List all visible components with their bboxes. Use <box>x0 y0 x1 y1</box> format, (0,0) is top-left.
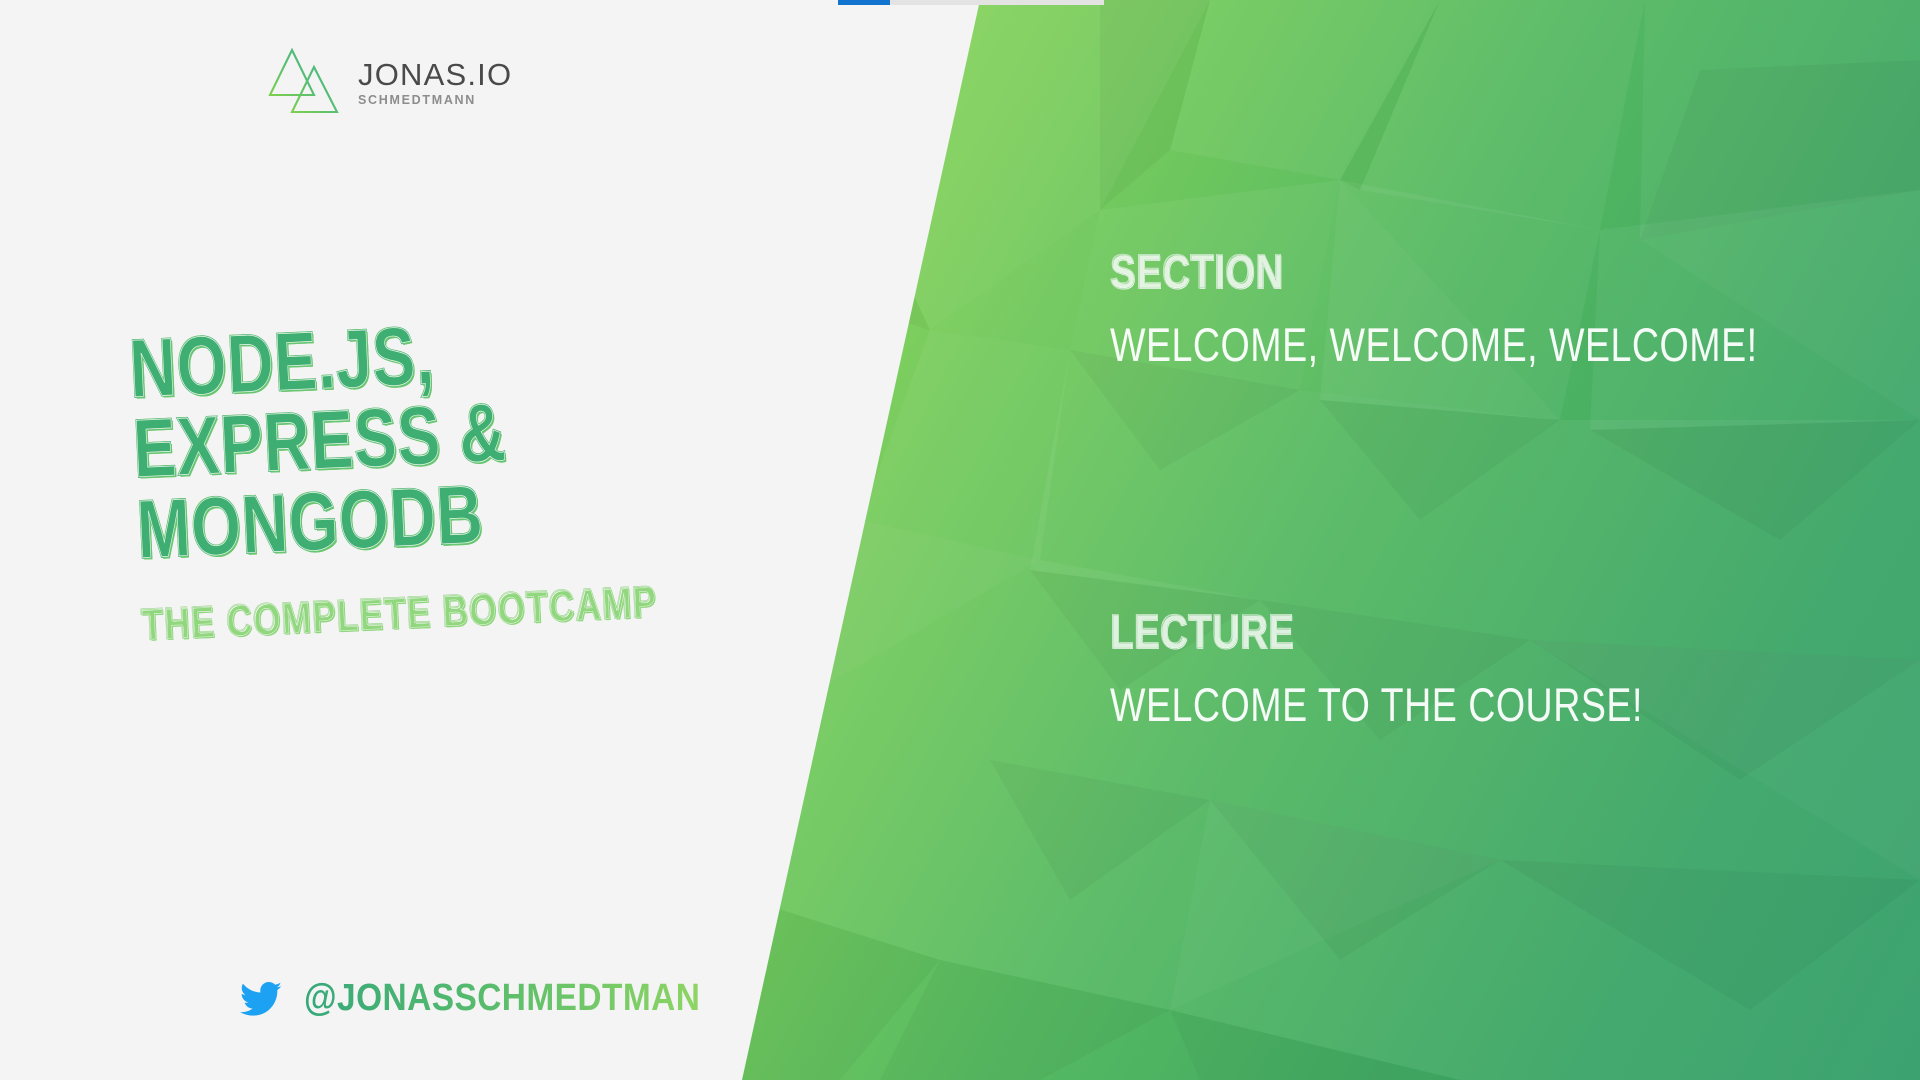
brand-logo[interactable]: JONAS.IO SCHMEDTMANN <box>268 42 512 120</box>
section-label: SECTION <box>1110 248 1718 298</box>
twitter-handle[interactable]: @JONASSCHMEDTMAN <box>304 977 700 1020</box>
progress-bar-fill <box>838 0 890 5</box>
progress-bar-track[interactable] <box>838 0 1104 5</box>
section-title: WELCOME, WELCOME, WELCOME! <box>1110 320 1718 371</box>
slide-root: JONAS.IO SCHMEDTMANN NODE.JS, EXPRESS & … <box>0 0 1920 1080</box>
twitter-bird-icon <box>240 981 282 1017</box>
double-triangle-logo-icon <box>268 42 340 120</box>
course-title: NODE.JS, EXPRESS & MONGODB <box>128 305 684 571</box>
twitter-handle-row[interactable]: @JONASSCHMEDTMAN <box>240 977 754 1020</box>
section-group: SECTION WELCOME, WELCOME, WELCOME! <box>1110 248 1870 371</box>
course-subtitle: THE COMPLETE BOOTCAMP <box>140 575 702 650</box>
left-pane: JONAS.IO SCHMEDTMANN NODE.JS, EXPRESS & … <box>0 0 860 1080</box>
lecture-label: LECTURE <box>1110 608 1718 658</box>
lecture-group: LECTURE WELCOME TO THE COURSE! <box>1110 608 1870 731</box>
brand-logo-text: JONAS.IO SCHMEDTMANN <box>358 55 512 107</box>
lecture-title: WELCOME TO THE COURSE! <box>1110 680 1718 731</box>
brand-tagline: SCHMEDTMANN <box>358 94 512 107</box>
brand-name: JONAS.IO <box>358 59 512 90</box>
course-title-block: NODE.JS, EXPRESS & MONGODB THE COMPLETE … <box>128 298 842 651</box>
lesson-info-pane: SECTION WELCOME, WELCOME, WELCOME! LECTU… <box>1110 0 1870 1080</box>
